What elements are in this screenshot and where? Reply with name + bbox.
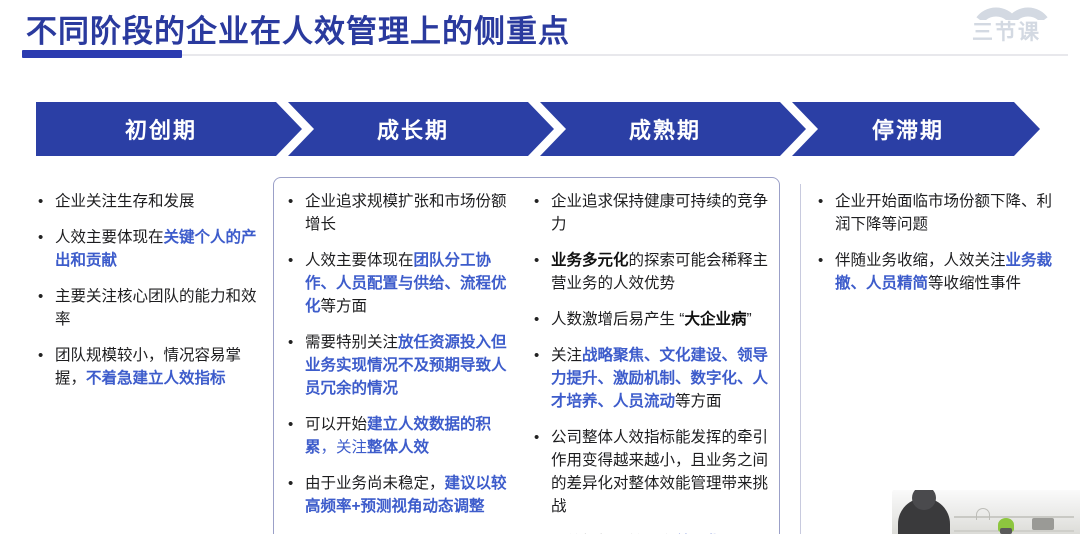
bullet-item: •企业追求规模扩张和市场份额增长 [288, 190, 520, 236]
bullet-marker-icon: • [534, 426, 551, 449]
title-rule-accent [22, 50, 182, 58]
bullet-text: 人效主要体现在团队分工协作、人员配置与供给、流程优化等方面 [305, 249, 520, 318]
bullet-item: •企业开始面临市场份额下降、利润下降等问题 [818, 190, 1063, 236]
bullet-item: •企业追求保持健康可持续的竞争力 [534, 190, 774, 236]
stage-column-1: •企业追求规模扩张和市场份额增长•人效主要体现在团队分工协作、人员配置与供给、流… [288, 190, 520, 531]
stage-chevron-3-label: 停滞期 [872, 113, 944, 145]
bullet-marker-icon: • [38, 344, 55, 367]
text-run: 需要特别关注 [305, 334, 398, 351]
bullet-item: •人数激增后易产生 “大企业病” [534, 308, 774, 331]
camera-shelf-lower [954, 530, 1074, 532]
stage-chevron-1-label: 成长期 [377, 113, 449, 145]
bullet-marker-icon: • [288, 472, 305, 495]
emphasis-run: 业务多元化 [551, 252, 629, 269]
camera-shelf [954, 516, 1074, 518]
bullet-marker-icon: • [534, 190, 551, 213]
text-run: 由于业务尚未稳定， [305, 475, 445, 492]
text-run: 企业关注生存和发展 [55, 193, 195, 210]
bullet-text: 企业追求保持健康可持续的竞争力 [551, 190, 774, 236]
bullet-text: 业务多元化的探索可能会稀释主营业务的人效优势 [551, 249, 774, 295]
bullet-text: 企业关注生存和发展 [55, 190, 266, 213]
text-run: 伴随业务收缩，人效关注 [835, 252, 1006, 269]
bullet-text: 团队规模较小，情况容易掌握，不着急建立人效指标 [55, 344, 266, 390]
camera-box-object [1032, 518, 1054, 530]
stage-chevron-0-label: 初创期 [125, 113, 197, 145]
bullet-text: 关注战略聚焦、文化建设、领导力提升、激励机制、数字化、人才培养、人员流动等方面 [551, 344, 774, 413]
text-run: ” [746, 311, 751, 328]
emphasis-run: 不着急建立人效指标 [86, 370, 226, 387]
stage-chevron-2[interactable]: 成熟期 [540, 102, 806, 156]
stage-chevron-2-label: 成熟期 [629, 113, 701, 145]
bullet-text: 可以开始建立人效数据的积累，关注整体人效 [305, 413, 520, 459]
text-run: 企业追求规模扩张和市场份额增长 [305, 193, 507, 233]
bullet-item: •关注战略聚焦、文化建设、领导力提升、激励机制、数字化、人才培养、人员流动等方面 [534, 344, 774, 413]
emphasis-run: 整体人效 [367, 439, 429, 456]
bullet-item: •人效主要体现在关键个人的产出和贡献 [38, 226, 266, 272]
stage-chevron-3[interactable]: 停滞期 [792, 102, 1040, 156]
stage-chevron-0[interactable]: 初创期 [36, 102, 302, 156]
stage-chevron-band: 初创期 成长期 成熟期 停滞期 [36, 102, 1040, 156]
brand-name: 三节课 [972, 16, 1041, 46]
bullet-marker-icon: • [534, 344, 551, 367]
stage-column-2: •企业追求保持健康可持续的竞争力•业务多元化的探索可能会稀释主营业务的人效优势•… [534, 190, 774, 534]
bullet-item: •伴随业务收缩，人效关注业务裁撤、人员精简等收缩性事件 [818, 249, 1063, 295]
bullet-marker-icon: • [818, 190, 835, 213]
bullet-marker-icon: • [818, 249, 835, 272]
stage-column-0: •企业关注生存和发展•人效主要体现在关键个人的产出和贡献•主要关注核心团队的能力… [38, 190, 266, 403]
camera-lamp [976, 508, 990, 520]
bullet-marker-icon: • [288, 413, 305, 436]
text-run: 企业追求保持健康可持续的竞争力 [551, 193, 768, 233]
text-run: 等收缩性事件 [928, 275, 1021, 292]
text-run: 人效主要体现在 [305, 252, 414, 269]
bullet-text: 由于业务尚未稳定，建议以较高频率+预测视角动态调整 [305, 472, 520, 518]
column-divider [800, 184, 801, 534]
stage-chevron-1[interactable]: 成长期 [288, 102, 554, 156]
bullet-marker-icon: • [38, 285, 55, 308]
bullet-item: •主要关注核心团队的能力和效率 [38, 285, 266, 331]
text-run: 企业开始面临市场份额下降、利润下降等问题 [835, 193, 1052, 233]
bullet-item: •业务多元化的探索可能会稀释主营业务的人效优势 [534, 249, 774, 295]
text-run: 人数激增后易产生 “ [551, 311, 684, 328]
bullet-item: •公司整体人效指标能发挥的牵引作用变得越来越小，且业务之间的差异化对整体效能管理… [534, 426, 774, 518]
bullet-marker-icon: • [38, 226, 55, 249]
emphasis-run: 关注 [336, 439, 367, 456]
bullet-item: •由于业务尚未稳定，建议以较高频率+预测视角动态调整 [288, 472, 520, 518]
page-title: 不同阶段的企业在人效管理上的侧重点 [26, 6, 570, 51]
text-run: 可以开始 [305, 416, 367, 433]
text-run: 人效主要体现在 [55, 229, 164, 246]
bullet-marker-icon: • [534, 249, 551, 272]
emphasis-run: 大企业病 [684, 311, 746, 328]
bullet-text: 主要关注核心团队的能力和效率 [55, 285, 266, 331]
bullet-item: •人效主要体现在团队分工协作、人员配置与供给、流程优化等方面 [288, 249, 520, 318]
bullet-marker-icon: • [38, 190, 55, 213]
bullet-marker-icon: • [288, 190, 305, 213]
text-run: 主要关注核心团队的能力和效率 [55, 288, 257, 328]
brand-logo: 三节课 [960, 0, 1070, 52]
text-run: 关注 [551, 347, 582, 364]
emphasis-run: 战略聚焦、文化建设、领导力提升、激励机制、数字化、人才培养、人员流动 [551, 347, 768, 410]
bullet-text: 人数激增后易产生 “大企业病” [551, 308, 774, 331]
bullet-text: 需要特别关注放任资源投入但业务实现情况不及预期导致人员冗余的情况 [305, 331, 520, 400]
bullet-text: 企业追求规模扩张和市场份额增长 [305, 190, 520, 236]
bullet-item: •可以开始建立人效数据的积累，关注整体人效 [288, 413, 520, 459]
bullet-text: 企业开始面临市场份额下降、利润下降等问题 [835, 190, 1063, 236]
slide-canvas: 不同阶段的企业在人效管理上的侧重点 三节课 初创期 成长期 成熟期 停滞期 •企… [0, 0, 1080, 534]
bullet-item: •企业关注生存和发展 [38, 190, 266, 213]
bullet-text: 人效主要体现在关键个人的产出和贡献 [55, 226, 266, 272]
bullet-marker-icon: • [534, 308, 551, 331]
bullet-item: •团队规模较小，情况容易掌握，不着急建立人效指标 [38, 344, 266, 390]
presenter-camera-overlay[interactable] [892, 490, 1080, 534]
emphasis-run: ， [321, 439, 337, 456]
bullet-marker-icon: • [288, 249, 305, 272]
bullet-marker-icon: • [288, 331, 305, 354]
text-run: 等方面 [675, 393, 722, 410]
bullet-item: •需要特别关注放任资源投入但业务实现情况不及预期导致人员冗余的情况 [288, 331, 520, 400]
stage-column-3: •企业开始面临市场份额下降、利润下降等问题•伴随业务收缩，人效关注业务裁撤、人员… [818, 190, 1063, 308]
text-run: 公司整体人效指标能发挥的牵引作用变得越来越小，且业务之间的差异化对整体效能管理带… [551, 429, 768, 515]
text-run: 等方面 [321, 298, 368, 315]
bullet-text: 伴随业务收缩，人效关注业务裁撤、人员精简等收缩性事件 [835, 249, 1063, 295]
camera-plant-pot [1000, 528, 1012, 534]
bullet-text: 公司整体人效指标能发挥的牵引作用变得越来越小，且业务之间的差异化对整体效能管理带… [551, 426, 774, 518]
